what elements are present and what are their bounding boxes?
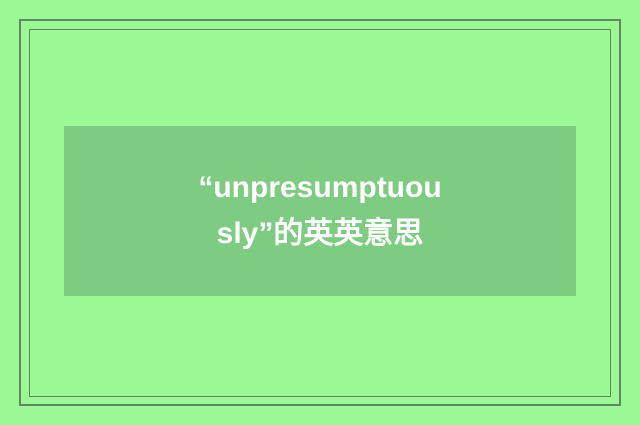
page-title: “unpresumptuously”的英英意思 (195, 165, 445, 257)
title-panel: “unpresumptuously”的英英意思 (64, 126, 576, 296)
page-canvas: “unpresumptuously”的英英意思 (0, 0, 640, 425)
